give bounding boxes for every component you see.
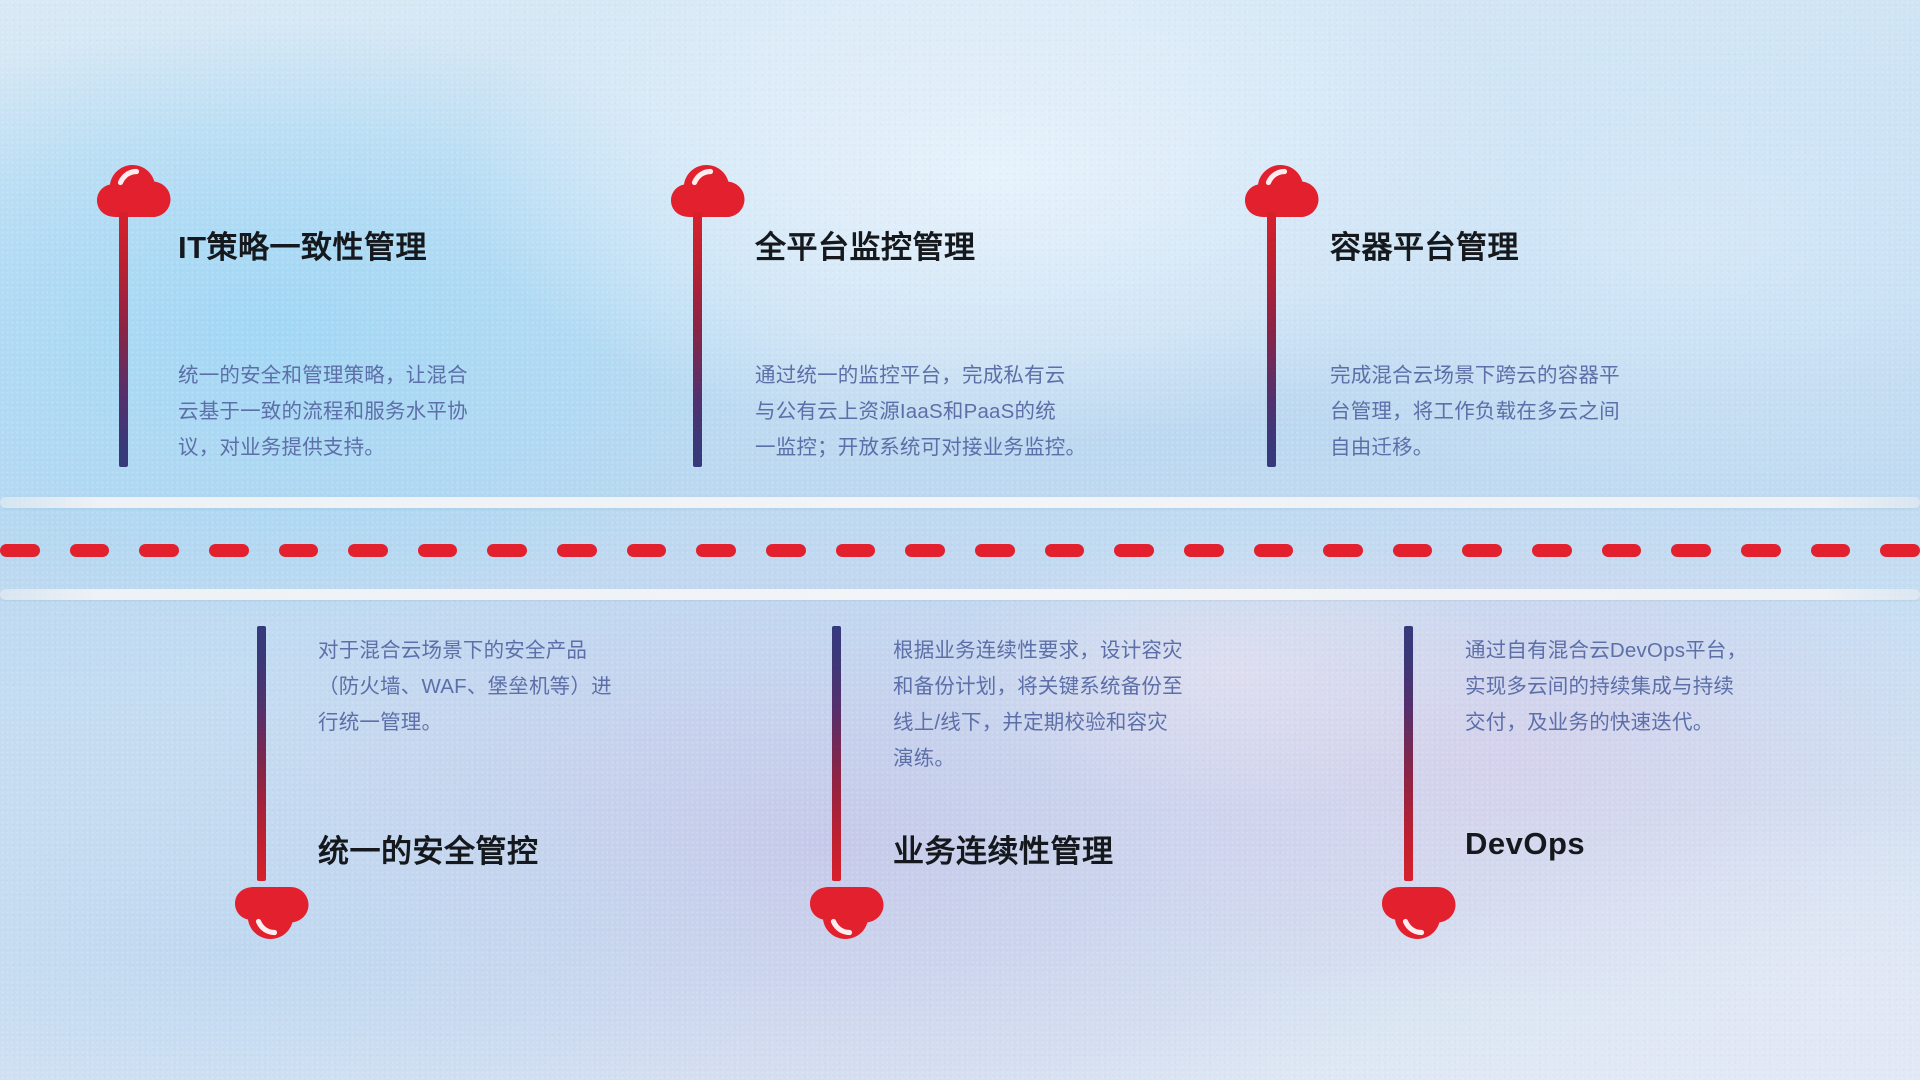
marker-title: 全平台监控管理 xyxy=(755,222,976,267)
marker-stem xyxy=(693,212,702,467)
road-dash-segment xyxy=(1532,544,1572,557)
road-dash-segment xyxy=(975,544,1015,557)
cloud-icon xyxy=(96,163,172,219)
marker-body: 通过自有混合云DevOps平台， 实现多云间的持续集成与持续 交付，及业务的快速… xyxy=(1465,633,1747,741)
road-dash-segment xyxy=(1671,544,1711,557)
marker-body: 统一的安全和管理策略，让混合 云基于一致的流程和服务水平协 议，对业务提供支持。 xyxy=(178,358,468,466)
road-dash-segment xyxy=(905,544,945,557)
road-dash-segment xyxy=(348,544,388,557)
road-bar-lower xyxy=(0,589,1920,600)
marker-body: 通过统一的监控平台，完成私有云 与公有云上资源IaaS和PaaS的统 一监控；开… xyxy=(755,358,1086,466)
marker-stem xyxy=(1404,626,1413,881)
marker-title: 容器平台管理 xyxy=(1330,222,1519,267)
road-dash-segment xyxy=(557,544,597,557)
marker-body: 完成混合云场景下跨云的容器平 台管理，将工作负载在多云之间 自由迁移。 xyxy=(1330,358,1620,466)
road-dash-segment xyxy=(1880,544,1920,557)
road-dash-segment xyxy=(0,544,40,557)
road-dash-segment xyxy=(1184,544,1224,557)
road-dash-segment xyxy=(1393,544,1433,557)
marker-body: 对于混合云场景下的安全产品 （防火墙、WAF、堡垒机等）进 行统一管理。 xyxy=(318,633,612,741)
road-dash-segment xyxy=(139,544,179,557)
road-dash-segment xyxy=(1602,544,1642,557)
road-bar-upper xyxy=(0,497,1920,508)
cloud-icon xyxy=(670,163,746,219)
road-dash-segment xyxy=(1811,544,1851,557)
infographic-canvas: IT策略一致性管理 统一的安全和管理策略，让混合 云基于一致的流程和服务水平协 … xyxy=(0,0,1920,1080)
road-dash-segment xyxy=(766,544,806,557)
marker-title: DevOps xyxy=(1465,826,1585,862)
road-dash-segment xyxy=(1323,544,1363,557)
road-dash-segment xyxy=(209,544,249,557)
cloud-icon xyxy=(234,885,310,941)
road-dash-segment xyxy=(1045,544,1085,557)
marker-title: 统一的安全管控 xyxy=(318,826,539,871)
road-dash-segment xyxy=(627,544,667,557)
marker-stem xyxy=(119,212,128,467)
road-dash-segment xyxy=(1462,544,1502,557)
marker-stem xyxy=(1267,212,1276,467)
road-dash-segment xyxy=(1254,544,1294,557)
road-dash-segment xyxy=(487,544,527,557)
road-dash-segment xyxy=(836,544,876,557)
marker-body: 根据业务连续性要求，设计容灾 和备份计划，将关键系统备份至 线上/线下，并定期校… xyxy=(893,633,1183,777)
cloud-icon xyxy=(1244,163,1320,219)
road-dash-segment xyxy=(696,544,736,557)
road-dashed-center-line xyxy=(0,544,1920,557)
cloud-icon xyxy=(1381,885,1457,941)
marker-stem xyxy=(257,626,266,881)
marker-title: IT策略一致性管理 xyxy=(178,222,427,267)
cloud-icon xyxy=(809,885,885,941)
road-dash-segment xyxy=(418,544,458,557)
road-dash-segment xyxy=(279,544,319,557)
road-dash-segment xyxy=(1741,544,1781,557)
marker-title: 业务连续性管理 xyxy=(893,826,1114,871)
road-dash-segment xyxy=(70,544,110,557)
marker-stem xyxy=(832,626,841,881)
road-dash-segment xyxy=(1114,544,1154,557)
